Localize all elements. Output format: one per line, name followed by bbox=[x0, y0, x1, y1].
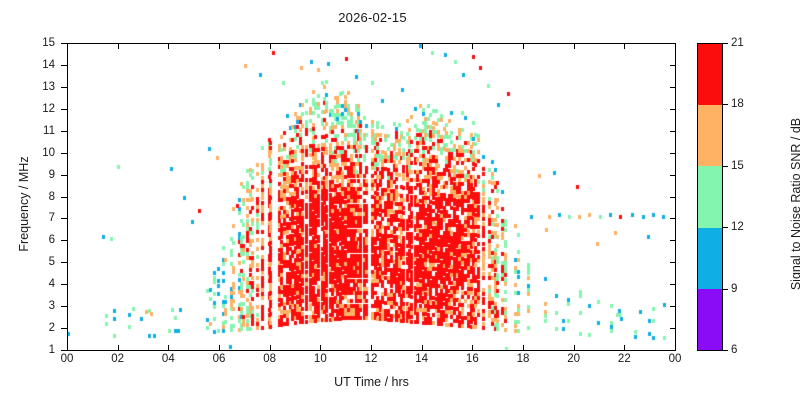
x-tick-label: 04 bbox=[162, 353, 175, 365]
y-tick-label: 13 bbox=[33, 81, 55, 93]
chart-root: 2026-02-15 123456789101112131415 0002040… bbox=[0, 0, 800, 400]
colorbar-band bbox=[698, 289, 722, 350]
colorbar-tick-label: 15 bbox=[731, 160, 744, 172]
y-tick-label: 12 bbox=[33, 103, 55, 115]
colorbar-tick-label: 18 bbox=[731, 98, 744, 110]
x-tick-top bbox=[67, 43, 68, 49]
y-tick bbox=[61, 87, 67, 88]
x-tick bbox=[523, 345, 524, 351]
y-tick bbox=[61, 240, 67, 241]
colorbar-tick bbox=[723, 166, 728, 167]
y-tick-right bbox=[670, 240, 676, 241]
colorbar-tick-label: 12 bbox=[731, 221, 744, 233]
y-tick bbox=[61, 306, 67, 307]
x-axis-title: UT Time / hrs bbox=[67, 375, 676, 389]
y-tick bbox=[61, 197, 67, 198]
y-tick-right bbox=[670, 175, 676, 176]
x-tick-label: 12 bbox=[365, 353, 378, 365]
x-tick-top bbox=[675, 43, 676, 49]
y-axis-title: Frequency / MHz bbox=[17, 104, 31, 304]
colorbar-tick bbox=[723, 104, 728, 105]
x-tick bbox=[118, 345, 119, 351]
x-tick-top bbox=[270, 43, 271, 49]
y-tick-label: 7 bbox=[33, 212, 55, 224]
x-tick bbox=[219, 345, 220, 351]
colorbar-tick bbox=[723, 350, 728, 351]
x-tick-label: 08 bbox=[263, 353, 276, 365]
colorbar-band bbox=[698, 228, 722, 289]
y-tick-right bbox=[670, 153, 676, 154]
y-tick bbox=[61, 328, 67, 329]
x-tick-top bbox=[472, 43, 473, 49]
y-tick-label: 11 bbox=[33, 125, 55, 137]
x-tick bbox=[624, 345, 625, 351]
y-tick-label: 2 bbox=[33, 322, 55, 334]
x-tick-label: 16 bbox=[466, 353, 479, 365]
x-tick-label: 20 bbox=[567, 353, 580, 365]
x-tick bbox=[67, 345, 68, 351]
x-tick-top bbox=[624, 43, 625, 49]
x-tick-top bbox=[574, 43, 575, 49]
x-tick-label: 14 bbox=[415, 353, 428, 365]
y-tick-right bbox=[670, 218, 676, 219]
x-tick bbox=[168, 345, 169, 351]
y-tick bbox=[61, 131, 67, 132]
y-tick-right bbox=[670, 131, 676, 132]
colorbar-tick bbox=[723, 43, 728, 44]
x-tick-label: 10 bbox=[314, 353, 327, 365]
x-tick bbox=[574, 345, 575, 351]
x-tick bbox=[472, 345, 473, 351]
x-tick-label: 18 bbox=[517, 353, 530, 365]
colorbar-title: Signal to Noise Ratio SNR / dB bbox=[789, 74, 800, 334]
x-tick-label: 06 bbox=[213, 353, 226, 365]
x-tick-top bbox=[523, 43, 524, 49]
x-tick bbox=[320, 345, 321, 351]
scatter-data-layer bbox=[68, 44, 675, 350]
x-tick-top bbox=[168, 43, 169, 49]
y-tick-label: 8 bbox=[33, 191, 55, 203]
chart-title: 2026-02-15 bbox=[0, 10, 745, 25]
x-tick-label: 00 bbox=[61, 353, 74, 365]
x-tick bbox=[270, 345, 271, 351]
y-tick-label: 10 bbox=[33, 147, 55, 159]
x-tick-top bbox=[118, 43, 119, 49]
colorbar-tick bbox=[723, 289, 728, 290]
y-tick bbox=[61, 262, 67, 263]
y-tick bbox=[61, 284, 67, 285]
y-tick-right bbox=[670, 65, 676, 66]
x-tick-label: 00 bbox=[669, 353, 682, 365]
y-tick-label: 9 bbox=[33, 169, 55, 181]
y-tick-label: 1 bbox=[33, 344, 55, 356]
y-tick-label: 15 bbox=[33, 37, 55, 49]
y-tick-label: 4 bbox=[33, 278, 55, 290]
plot-area bbox=[67, 43, 676, 351]
x-tick-top bbox=[422, 43, 423, 49]
colorbar-tick-label: 6 bbox=[731, 344, 737, 356]
x-tick bbox=[422, 345, 423, 351]
y-tick-right bbox=[670, 197, 676, 198]
y-tick-label: 3 bbox=[33, 300, 55, 312]
y-tick-right bbox=[670, 262, 676, 263]
x-tick-label: 22 bbox=[618, 353, 631, 365]
y-tick-right bbox=[670, 284, 676, 285]
y-tick-label: 14 bbox=[33, 59, 55, 71]
colorbar-band bbox=[698, 105, 722, 166]
y-tick bbox=[61, 153, 67, 154]
x-tick bbox=[675, 345, 676, 351]
y-tick bbox=[61, 175, 67, 176]
x-tick-top bbox=[371, 43, 372, 49]
colorbar bbox=[697, 43, 723, 351]
y-tick-label: 5 bbox=[33, 256, 55, 268]
y-tick-right bbox=[670, 306, 676, 307]
colorbar-tick bbox=[723, 227, 728, 228]
y-tick bbox=[61, 65, 67, 66]
colorbar-tick-label: 9 bbox=[731, 283, 737, 295]
x-tick-top bbox=[219, 43, 220, 49]
y-tick bbox=[61, 109, 67, 110]
y-tick-label: 6 bbox=[33, 234, 55, 246]
colorbar-band bbox=[698, 44, 722, 105]
x-tick bbox=[371, 345, 372, 351]
y-tick-right bbox=[670, 109, 676, 110]
y-tick bbox=[61, 218, 67, 219]
colorbar-band bbox=[698, 166, 722, 227]
y-tick-right bbox=[670, 328, 676, 329]
x-tick-label: 02 bbox=[111, 353, 124, 365]
x-tick-top bbox=[320, 43, 321, 49]
y-tick-right bbox=[670, 87, 676, 88]
colorbar-tick-label: 21 bbox=[731, 37, 744, 49]
